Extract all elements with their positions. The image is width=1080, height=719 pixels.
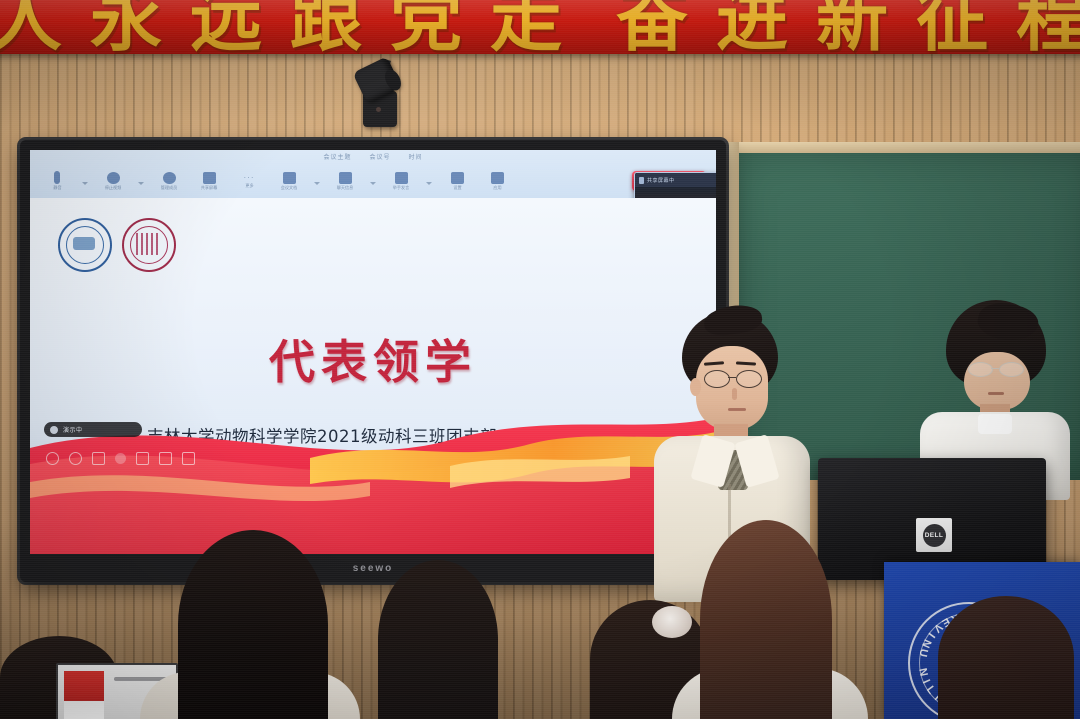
glasses-icon: [968, 362, 1028, 375]
toolbar-item-label: 更多: [245, 183, 253, 189]
meeting-toolbar[interactable]: 静音停止视频管理成员共享屏幕···更多会议文档聊天信息举手发言设置应用结束会议: [38, 164, 712, 198]
chevron-down-icon[interactable]: [138, 182, 144, 185]
list-item: [938, 596, 1074, 719]
toolbar-item-label: 会议文档: [281, 185, 298, 191]
toolbar-item-settings[interactable]: 设置: [442, 172, 472, 191]
presenter-right-collar: [978, 414, 1012, 434]
more-icon[interactable]: ···: [244, 173, 255, 182]
chevron-down-icon[interactable]: [370, 182, 376, 185]
toolbar-item-raise-hand[interactable]: 举手发言: [386, 172, 416, 191]
chat-icon[interactable]: [339, 172, 352, 184]
banner-gloss: [0, 0, 1080, 54]
glasses-lens-left: [968, 362, 993, 377]
pointer-control-icon[interactable]: [115, 453, 126, 464]
peking-university-seal: [122, 218, 176, 272]
slide-controls[interactable]: [46, 452, 195, 465]
presenter-left-ear: [690, 378, 701, 396]
apps-icon[interactable]: [491, 172, 504, 184]
red-slogan-banner: 人永远跟党走奋进新征程: [0, 0, 1080, 54]
record-icon[interactable]: [283, 172, 296, 184]
panel-bottom-bezel: seewo: [20, 554, 726, 582]
glasses-icon: [704, 370, 766, 386]
presenting-icon: [50, 426, 58, 434]
meeting-time: 时间: [409, 152, 423, 161]
participants-icon[interactable]: [163, 172, 176, 184]
dell-logo-ring: DELL: [923, 524, 946, 547]
chevron-down-icon[interactable]: [314, 182, 320, 185]
glasses-lens-right: [736, 370, 762, 388]
slide-title: 代表领学: [30, 326, 716, 392]
presenter-left-nose: [732, 388, 737, 400]
interactive-flat-panel[interactable]: 会议主题 会议号 时间 静音停止视频管理成员共享屏幕···更多会议文档聊天信息举…: [20, 140, 726, 582]
list-item: [178, 530, 328, 719]
exit-control-icon[interactable]: [182, 452, 195, 465]
toolbar-item-participants[interactable]: 管理成员: [154, 172, 184, 191]
presenting-badge-label: 演示中: [63, 425, 83, 434]
pen-control-icon[interactable]: [92, 452, 105, 465]
list-item: [378, 560, 498, 719]
lectern-seal-letter: N: [916, 667, 930, 678]
jilin-university-seal: [58, 218, 112, 272]
presenting-badge: 演示中: [44, 422, 142, 437]
meeting-titlebar: 会议主题 会议号 时间: [30, 150, 716, 163]
glasses-bridge: [728, 377, 736, 378]
thumbnail-header-label: 共享屏幕中: [647, 177, 675, 184]
raise-hand-icon[interactable]: [395, 172, 408, 184]
presenter-right-face: [964, 352, 1030, 410]
toolbar-item-label: 设置: [453, 185, 461, 191]
page-control-icon[interactable]: [159, 452, 172, 465]
chalkboard-frame-top: [736, 142, 1080, 153]
toolbar-item-label: 停止视频: [105, 185, 122, 191]
meeting-number: 会议号: [369, 152, 390, 161]
glasses-lens-left: [704, 370, 730, 388]
toolbar-item-label: 管理成员: [161, 185, 178, 191]
camera-icon[interactable]: [107, 172, 120, 184]
toolbar-item-label: 静音: [53, 185, 61, 191]
share-icon: [639, 177, 644, 184]
hair-clip: [652, 606, 692, 638]
toolbar-item-microphone[interactable]: 静音: [42, 171, 72, 191]
eraser-control-icon[interactable]: [136, 452, 149, 465]
toolbar-item-share-screen[interactable]: 共享屏幕: [194, 172, 224, 191]
laptop-screen-document: [64, 671, 104, 719]
play-control-icon[interactable]: [46, 452, 59, 465]
toolbar-item-label: 共享屏幕: [201, 185, 218, 191]
dell-logo-text: DELL: [925, 532, 944, 539]
toolbar-item-label: 举手发言: [393, 185, 410, 191]
thumbnail-header: 共享屏幕中: [635, 173, 716, 187]
seewo-logo: seewo: [353, 563, 394, 574]
panel-screen[interactable]: 会议主题 会议号 时间 静音停止视频管理成员共享屏幕···更多会议文档聊天信息举…: [30, 150, 716, 554]
toolbar-item-label: 应用: [493, 185, 501, 191]
presenter-left-mouth: [728, 408, 746, 411]
ceiling-camera-icon: [360, 57, 400, 133]
list-item: [700, 520, 832, 719]
presenter-right-mouth: [988, 392, 1004, 395]
glasses-bridge: [991, 368, 999, 369]
pause-control-icon[interactable]: [69, 452, 82, 465]
chevron-down-icon[interactable]: [426, 182, 432, 185]
toolbar-item-label: 聊天信息: [337, 185, 354, 191]
toolbar-item-chat[interactable]: 聊天信息: [330, 172, 360, 191]
camera-indicator-icon: [376, 107, 381, 112]
toolbar-item-camera[interactable]: 停止视频: [98, 172, 128, 191]
glasses-lens-right: [999, 362, 1024, 377]
meeting-topic: 会议主题: [323, 152, 351, 161]
toolbar-item-record[interactable]: 会议文档: [274, 172, 304, 191]
toolbar-item-more[interactable]: ···更多: [234, 173, 264, 189]
toolbar-item-apps[interactable]: 应用: [482, 172, 512, 191]
classroom-scene: 人永远跟党走奋进新征程 会议主题 会议号 时间 静音停止视频管理成员共享屏幕··…: [0, 0, 1080, 719]
presentation-slide: 代表领学 吉林大学动物科学学院2021级动科三班团支部：王展、王耀 北京大学生命…: [30, 198, 716, 554]
microphone-icon[interactable]: [54, 171, 60, 184]
slide-wave-graphic: 演示中: [30, 404, 716, 554]
settings-icon[interactable]: [451, 172, 464, 184]
dell-logo-plate: DELL: [916, 518, 952, 552]
share-screen-icon[interactable]: [203, 172, 216, 184]
meeting-app-header: 会议主题 会议号 时间 静音停止视频管理成员共享屏幕···更多会议文档聊天信息举…: [30, 150, 716, 198]
chevron-down-icon[interactable]: [82, 182, 88, 185]
